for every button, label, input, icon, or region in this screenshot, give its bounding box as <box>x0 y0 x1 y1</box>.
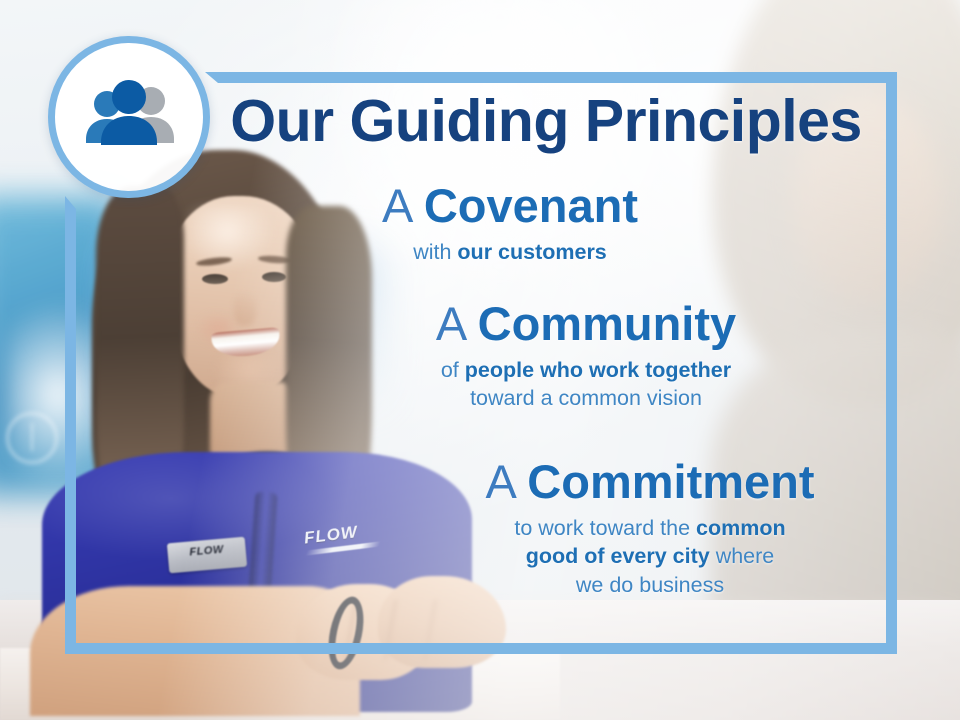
principle-subtext-line: we do business <box>400 571 900 600</box>
subtext-emphasis: our customers <box>457 240 606 264</box>
principle-commitment: A Commitment to work toward the commongo… <box>400 458 900 600</box>
guiding-principles-graphic: FLOW FLOW <box>0 0 960 720</box>
text-content: Our Guiding Principles A Covenant with o… <box>0 0 960 720</box>
principle-subtext-line: with our customers <box>300 238 720 267</box>
principle-subtext: of people who work togethertoward a comm… <box>352 356 820 413</box>
principle-title: A Community <box>352 300 820 349</box>
subtext-emphasis: people who work together <box>465 358 731 382</box>
principle-article: A <box>436 297 478 350</box>
subtext-run: toward a common vision <box>470 386 702 410</box>
principle-article: A <box>485 455 527 508</box>
principle-subtext: to work toward the commongood of every c… <box>400 514 900 600</box>
subtext-run: we do business <box>576 573 724 597</box>
subtext-run: where <box>710 544 775 568</box>
subtext-run: with <box>413 240 457 264</box>
subtext-emphasis: good of every city <box>526 544 710 568</box>
principle-word: Community <box>478 297 737 350</box>
subtext-run: of <box>441 358 465 382</box>
principle-community: A Community of people who work togethert… <box>352 300 820 413</box>
principle-subtext: with our customers <box>300 238 720 267</box>
page-title: Our Guiding Principles <box>196 92 896 151</box>
principle-title: A Covenant <box>300 182 720 231</box>
principle-subtext-line: to work toward the common <box>400 514 900 543</box>
principle-subtext-line: toward a common vision <box>352 384 820 413</box>
principle-title: A Commitment <box>400 458 900 507</box>
principle-subtext-line: good of every city where <box>400 542 900 571</box>
principle-covenant: A Covenant with our customers <box>300 182 720 266</box>
subtext-emphasis: common <box>696 516 786 540</box>
principle-word: Commitment <box>527 455 814 508</box>
principle-word: Covenant <box>424 179 638 232</box>
principle-subtext-line: of people who work together <box>352 356 820 385</box>
principle-article: A <box>382 179 424 232</box>
subtext-run: to work toward the <box>514 516 696 540</box>
